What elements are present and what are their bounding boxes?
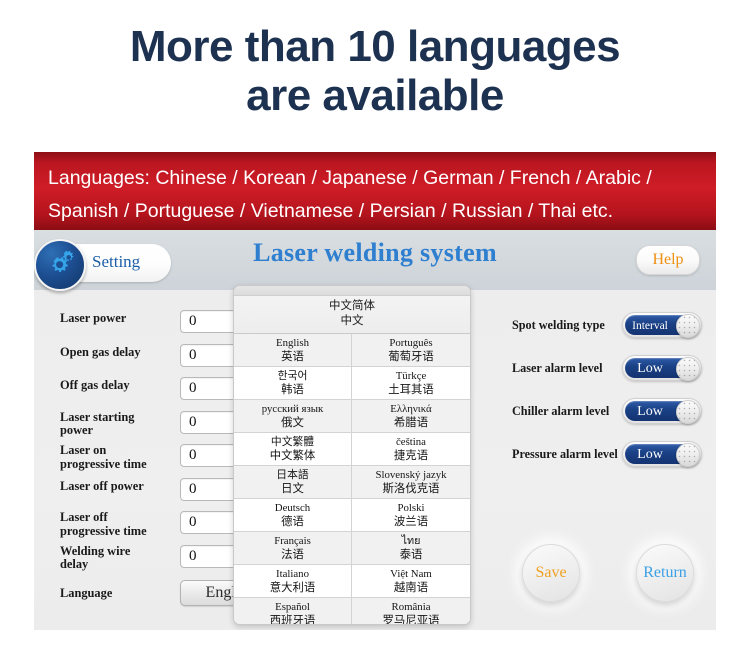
language-option-japanese[interactable]: 日本語 日文 [234,466,352,498]
list-item: English 英语 Português 葡萄牙语 [234,334,470,367]
languages-banner-line-2: Spanish / Portuguese / Vietnamese / Pers… [48,195,702,228]
settings-right-column: Spot welding type Interval Laser alarm l… [512,312,712,484]
row-laser-alarm-level: Laser alarm level Low [512,355,712,398]
toggle-label: Pressure alarm level [512,447,618,462]
language-option-portuguese[interactable]: Português 葡萄牙语 [352,334,470,366]
language-option-turkish[interactable]: Türkçe 土耳其语 [352,367,470,399]
field-label: Laser off power [60,480,152,494]
toggle-knob[interactable] [676,314,700,338]
language-popup-header-native: 中文简体 [234,299,470,314]
language-native: русский язык [234,402,351,416]
toggle-label: Spot welding type [512,318,605,333]
field-label: Off gas delay [60,379,152,393]
language-option-greek[interactable]: Ελληνικά 希腊语 [352,400,470,432]
language-native: 日本語 [234,468,351,482]
language-cn: 西班牙语 [234,614,351,625]
language-native: Türkçe [352,369,470,383]
help-button[interactable]: Help [636,245,700,275]
language-list: English 英语 Português 葡萄牙语 한국어 韩语 Türkçe [234,334,470,625]
pressure-alarm-level-toggle[interactable]: Low [622,441,702,467]
language-popup-header-cn: 中文 [234,314,470,329]
language-cn: 波兰语 [352,515,470,529]
language-option-polish[interactable]: Polski 波兰语 [352,499,470,531]
language-native: Français [234,534,351,548]
toggle-value: Interval [623,313,677,337]
language-option-vietnamese[interactable]: Việt Nam 越南语 [352,565,470,597]
return-button[interactable]: Return [636,544,694,602]
languages-banner-line-1: Languages: Chinese / Korean / Japanese /… [48,162,702,195]
toggle-knob[interactable] [676,443,700,467]
field-label: Laser power [60,312,152,326]
language-option-romanian[interactable]: România 罗马尼亚语 [352,598,470,625]
language-option-french[interactable]: Français 法语 [234,532,352,564]
page-title-line-1: More than 10 languages [130,22,620,71]
spot-welding-type-toggle[interactable]: Interval [622,312,702,338]
page-root: More than 10 languages are available Lan… [0,0,750,652]
language-native: Việt Nam [352,567,470,581]
language-native: Português [352,336,470,350]
list-item: Deutsch 德语 Polski 波兰语 [234,499,470,532]
list-item: 한국어 韩语 Türkçe 土耳其语 [234,367,470,400]
field-label: Laser on progressive time [60,444,152,471]
toggle-knob[interactable] [676,400,700,424]
language-option-russian[interactable]: русский язык 俄文 [234,400,352,432]
list-item: Français 法语 ไทย 泰语 [234,532,470,565]
language-popup-titlebar [234,286,470,296]
language-native: România [352,600,470,614]
chiller-alarm-level-toggle[interactable]: Low [622,398,702,424]
language-option-english[interactable]: English 英语 [234,334,352,366]
hmi-screenshot: Languages: Chinese / Korean / Japanese /… [34,152,716,630]
save-button[interactable]: Save [522,544,580,602]
language-cn: 英语 [234,350,351,364]
language-cn: 韩语 [234,383,351,397]
toggle-knob[interactable] [676,357,700,381]
language-cn: 葡萄牙语 [352,350,470,364]
list-item: Español 西班牙语 România 罗马尼亚语 [234,598,470,625]
language-cn: 斯洛伐克语 [352,482,470,496]
toggle-label: Laser alarm level [512,361,602,376]
row-chiller-alarm-level: Chiller alarm level Low [512,398,712,441]
field-label: Welding wire delay [60,545,152,572]
language-native: Slovenský jazyk [352,468,470,482]
toggle-label: Chiller alarm level [512,404,609,419]
language-popup: 中文简体 中文 English 英语 Português 葡萄牙语 한국 [233,285,471,625]
language-native: ไทย [352,534,470,548]
language-native: Ελληνικά [352,402,470,416]
languages-banner: Languages: Chinese / Korean / Japanese /… [34,152,716,230]
language-cn: 捷克语 [352,449,470,463]
language-option-czech[interactable]: čeština 捷克语 [352,433,470,465]
language-native: čeština [352,435,470,449]
language-native: Italiano [234,567,351,581]
language-native: 中文繁體 [234,435,351,449]
language-native: 한국어 [234,369,351,383]
language-cn: 希腊语 [352,416,470,430]
toggle-value: Low [623,399,677,423]
page-title-line-2: are available [0,71,750,120]
language-popup-header: 中文简体 中文 [234,296,470,334]
language-option-traditional-chinese[interactable]: 中文繁體 中文繁体 [234,433,352,465]
list-item: русский язык 俄文 Ελληνικά 希腊语 [234,400,470,433]
language-cn: 越南语 [352,581,470,595]
language-cn: 土耳其语 [352,383,470,397]
field-label: Laser off progressive time [60,511,152,538]
language-cn: 罗马尼亚语 [352,614,470,625]
language-native: Deutsch [234,501,351,515]
toggle-value: Low [623,442,677,466]
language-option-korean[interactable]: 한국어 韩语 [234,367,352,399]
language-cn: 法语 [234,548,351,562]
language-native: English [234,336,351,350]
toggle-value: Low [623,356,677,380]
laser-alarm-level-toggle[interactable]: Low [622,355,702,381]
field-label: Laser starting power [60,411,152,438]
row-spot-welding-type: Spot welding type Interval [512,312,712,355]
tab-setting[interactable]: Setting [40,244,171,282]
language-option-german[interactable]: Deutsch 德语 [234,499,352,531]
language-cn: 日文 [234,482,351,496]
list-item: Italiano 意大利语 Việt Nam 越南语 [234,565,470,598]
language-cn: 泰语 [352,548,470,562]
language-cn: 意大利语 [234,581,351,595]
row-pressure-alarm-level: Pressure alarm level Low [512,441,712,484]
list-item: 日本語 日文 Slovenský jazyk 斯洛伐克语 [234,466,470,499]
language-native: Español [234,600,351,614]
tab-setting-label: Setting [92,252,140,272]
page-title: More than 10 languages are available [0,22,750,121]
field-label: Open gas delay [60,346,152,360]
list-item: 中文繁體 中文繁体 čeština 捷克语 [234,433,470,466]
gear-icon [34,239,86,291]
language-option-thai[interactable]: ไทย 泰语 [352,532,470,564]
language-option-italian[interactable]: Italiano 意大利语 [234,565,352,597]
language-cn: 中文繁体 [234,449,351,463]
language-option-slovak[interactable]: Slovenský jazyk 斯洛伐克语 [352,466,470,498]
field-label: Language [60,586,152,601]
language-cn: 俄文 [234,416,351,430]
language-cn: 德语 [234,515,351,529]
language-option-spanish[interactable]: Español 西班牙语 [234,598,352,625]
language-native: Polski [352,501,470,515]
